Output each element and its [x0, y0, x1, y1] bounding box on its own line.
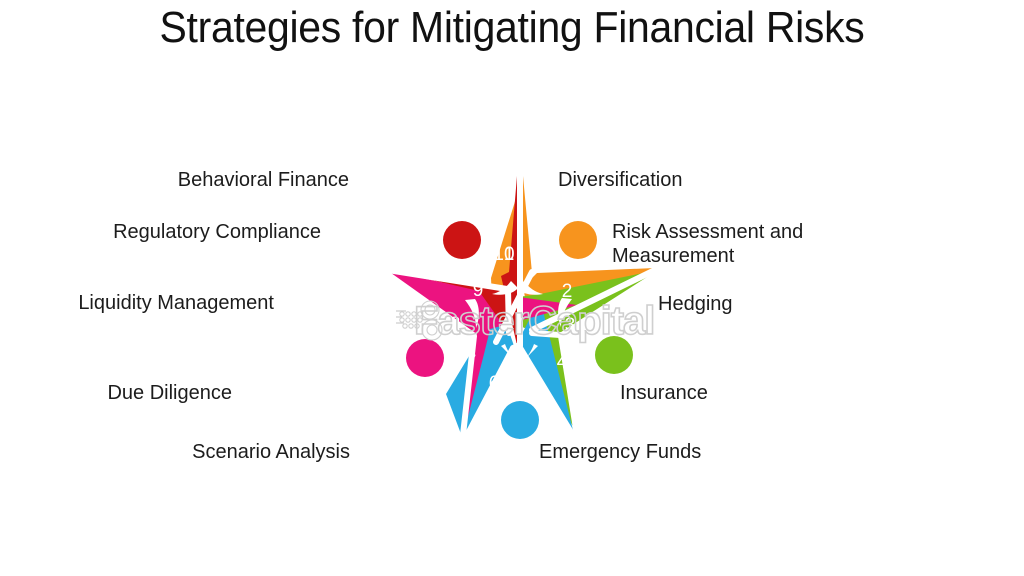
label-text: Hedging — [658, 293, 733, 315]
head-circle-green — [595, 336, 633, 374]
label-text: Scenario Analysis — [192, 441, 350, 463]
segment-number-7: 7 — [466, 352, 477, 373]
label-text: Regulatory Compliance — [113, 221, 321, 243]
star-diagram: 1 2 3 4 5 6 7 8 9 10 — [372, 168, 668, 458]
label-scenario-analysis: Scenario Analysis — [50, 440, 350, 464]
segment-number-2: 2 — [562, 281, 573, 302]
label-regulatory-compliance: Regulatory Compliance — [21, 220, 321, 244]
segment-number-9: 9 — [473, 280, 484, 301]
head-circle-red — [443, 221, 481, 259]
segment-number-6: 6 — [489, 373, 500, 394]
star-diagram-svg: 1 2 3 4 5 6 7 8 9 10 — [372, 168, 668, 458]
segment-number-8: 8 — [450, 314, 461, 335]
slide-canvas: Strategies for Mitigating Financial Risk… — [0, 0, 1024, 576]
page-title: Strategies for Mitigating Financial Risk… — [36, 2, 988, 54]
head-circle-orange — [559, 221, 597, 259]
segment-number-10: 10 — [493, 244, 514, 265]
segment-number-4: 4 — [557, 352, 568, 373]
segment-number-3: 3 — [565, 315, 576, 336]
segment-number-5: 5 — [530, 373, 541, 394]
head-circle-pink — [406, 339, 444, 377]
label-behavioral-finance: Behavioral Finance — [49, 168, 349, 192]
label-liquidity-management: Liquidity Management — [0, 291, 274, 315]
head-circle-blue — [501, 401, 539, 439]
label-text: Due Diligence — [107, 382, 232, 404]
label-hedging: Hedging — [658, 292, 733, 316]
label-text: Liquidity Management — [78, 292, 274, 314]
label-text: Behavioral Finance — [178, 169, 349, 191]
label-due-diligence: Due Diligence — [0, 381, 232, 405]
